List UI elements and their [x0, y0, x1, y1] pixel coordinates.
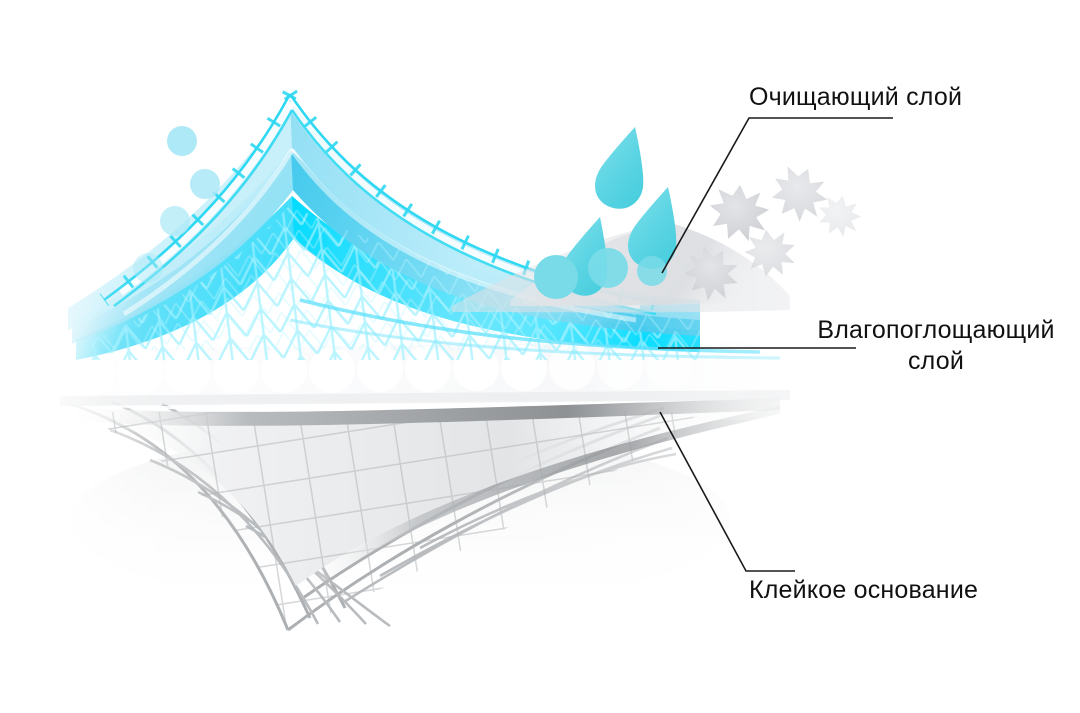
cleaning-fade-left	[40, 240, 150, 370]
floating-bubble-3	[160, 206, 190, 236]
label-absorbent-layer: Влагопоглощающий слой	[800, 315, 1072, 377]
label-cleaning-layer: Очищающий слой	[749, 82, 962, 113]
floating-bubble-2	[190, 169, 220, 199]
surface-bubble-2	[588, 248, 628, 288]
diagram-canvas: Очищающий слой Влагопоглощающий слой Кле…	[0, 0, 1080, 713]
floating-bubble-4	[133, 253, 163, 283]
label-adhesive-base: Клейкое основание	[749, 575, 978, 606]
droplet-1	[595, 127, 643, 209]
surface-bubble-1	[534, 255, 578, 299]
floating-bubble-1	[167, 126, 197, 156]
adhesive-base-layer	[40, 380, 1080, 680]
